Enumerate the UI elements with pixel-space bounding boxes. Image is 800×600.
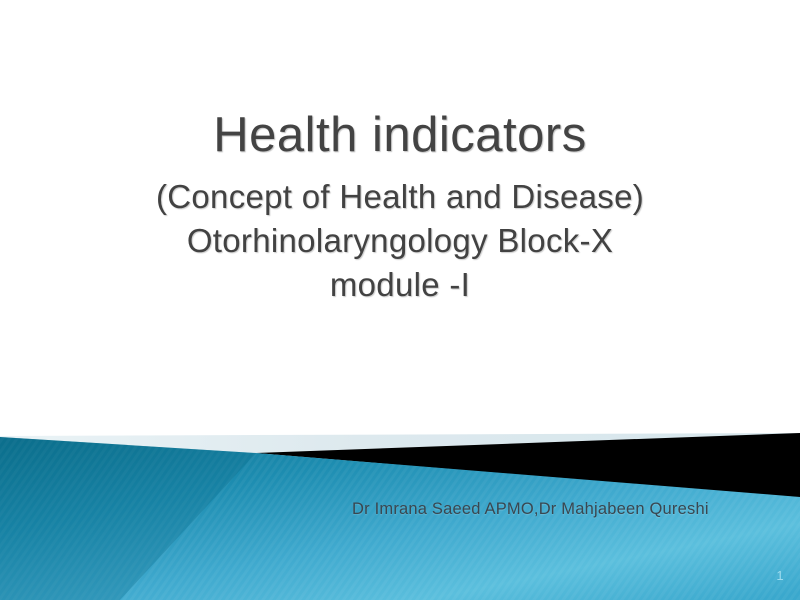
author-line: Dr Imrana Saeed APMO,Dr Mahjabeen Quresh… [352, 500, 709, 519]
presentation-slide: Health indicators (Concept of Health and… [0, 0, 800, 600]
slide-number: 1 [770, 568, 790, 583]
